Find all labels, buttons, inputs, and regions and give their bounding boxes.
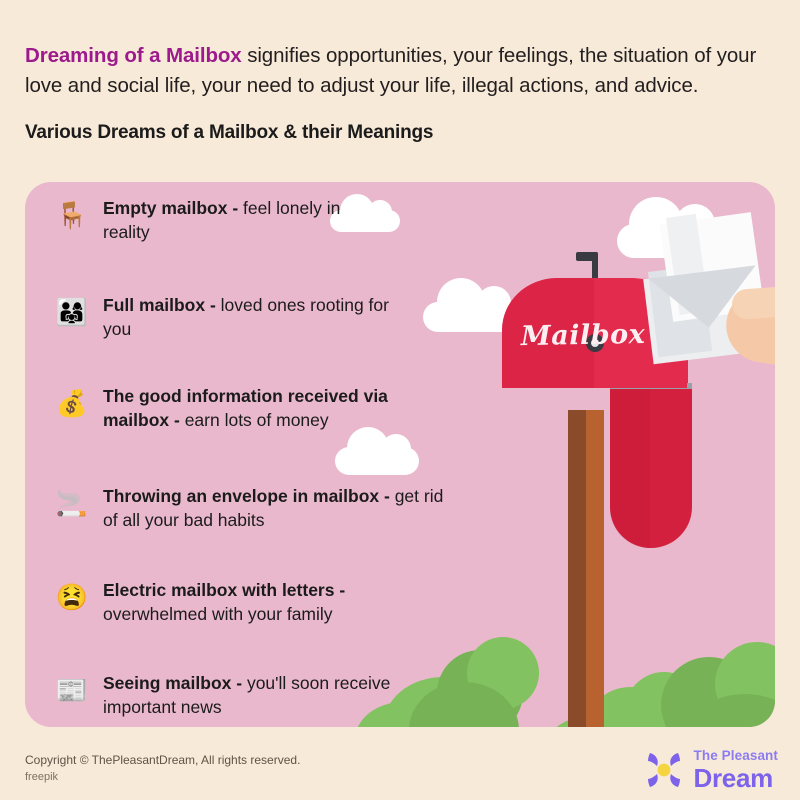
list-item-text: Empty mailbox - feel lonely in reality [103, 196, 385, 244]
list-item[interactable]: 🪑 Empty mailbox - feel lonely in reality [55, 196, 385, 244]
list-item-text: The good information received via mailbo… [103, 384, 435, 432]
brand-line-1: The Pleasant [694, 749, 778, 763]
bush-icon [409, 682, 519, 727]
list-item[interactable]: 📰 Seeing mailbox - you'll soon receive i… [55, 671, 395, 719]
cloud-icon [423, 302, 523, 332]
mailbox-post-highlight [586, 410, 604, 727]
no-bad-habits-icon: 🚬 [55, 486, 89, 520]
bush-icon [625, 672, 703, 727]
list-item-title: Throwing an envelope in mailbox - [103, 486, 395, 506]
newspaper-icon: 📰 [55, 673, 89, 707]
mailbox-opening [618, 284, 684, 388]
mailbox-inner-letter-flap [618, 316, 670, 350]
bush-icon [585, 687, 675, 727]
brand-logo-text: The Pleasant Dream [694, 749, 778, 791]
mailbox-label: Mailbox [518, 319, 649, 352]
mailbox-flag-pole [592, 252, 598, 342]
mailbox-inner-letter [618, 316, 670, 388]
letter-paper-shade [666, 214, 709, 315]
bush-icon [467, 637, 539, 709]
list-item[interactable]: 🚬 Throwing an envelope in mailbox - get … [55, 484, 455, 532]
envelope-flap [648, 265, 762, 334]
mailbox-illustration: Mailbox [480, 200, 775, 727]
letter-paper [660, 212, 765, 322]
copyright-text: Copyright © ThePleasantDream, All rights… [25, 752, 300, 769]
list-item-title: Seeing mailbox - [103, 673, 247, 693]
list-item[interactable]: 👨‍👩‍👧 Full mailbox - loved ones rooting … [55, 293, 395, 341]
envelope-icon [643, 266, 761, 365]
mailbox-body [502, 278, 687, 388]
list-item-meaning: earn lots of money [185, 410, 329, 430]
list-item-meaning: overwhelmed with your family [103, 604, 333, 624]
bush-icon [685, 694, 775, 727]
brand-line-2: Dream [694, 765, 778, 791]
list-item-title: Full mailbox - [103, 295, 221, 315]
credit-text: freepik [25, 769, 300, 786]
intro-paragraph: Dreaming of a Mailbox signifies opportun… [25, 41, 775, 101]
hand-thumb [731, 286, 775, 320]
bush-icon [715, 642, 775, 726]
cloud-icon [617, 224, 727, 258]
couple-on-bench-icon: 🪑 [55, 198, 89, 232]
stressed-person-icon: 😫 [55, 580, 89, 614]
list-item-text: Seeing mailbox - you'll soon receive imp… [103, 671, 395, 719]
cloud-icon [335, 447, 419, 475]
list-item[interactable]: 💰 The good information received via mail… [55, 384, 435, 432]
money-growth-icon: 💰 [55, 386, 89, 420]
list-item-title: Electric mailbox with letters - [103, 580, 345, 600]
list-item-text: Throwing an envelope in mailbox - get ri… [103, 484, 455, 532]
mailbox-flag-top [576, 252, 598, 261]
mailbox-flag-knob [586, 334, 604, 352]
mailbox-lip [610, 383, 692, 389]
mailbox-door [610, 278, 688, 388]
section-title: Various Dreams of a Mailbox & their Mean… [25, 122, 775, 144]
mailbox-body-shade [502, 278, 594, 388]
list-item[interactable]: 😫 Electric mailbox with letters - overwh… [55, 578, 405, 626]
hand-icon [721, 283, 775, 375]
dreams-card: Mailbox 🪑 Empty mailbox - feel lonely in… [25, 182, 775, 727]
bush-icon [545, 712, 675, 727]
bush-icon [383, 677, 503, 727]
mailbox-door-flap [610, 386, 692, 548]
bush-icon [661, 657, 757, 727]
family-with-heart-icon: 👨‍👩‍👧 [55, 295, 89, 329]
scene-illustration: Mailbox [25, 182, 775, 727]
pleasant-dream-logo-icon [643, 749, 685, 791]
intro-lead: Dreaming of a Mailbox [25, 44, 242, 67]
bush-icon [437, 650, 523, 727]
envelope-shade [648, 265, 712, 357]
list-item-text: Electric mailbox with letters - overwhel… [103, 578, 405, 626]
mailbox-door-shade [610, 386, 650, 548]
footer-copyright-block: Copyright © ThePleasantDream, All rights… [25, 752, 300, 786]
header: Dreaming of a Mailbox signifies opportun… [25, 20, 775, 144]
list-item-text: Full mailbox - loved ones rooting for yo… [103, 293, 395, 341]
list-item-title: Empty mailbox - [103, 198, 243, 218]
brand-logo[interactable]: The Pleasant Dream [643, 749, 778, 791]
mailbox-post [568, 410, 604, 727]
